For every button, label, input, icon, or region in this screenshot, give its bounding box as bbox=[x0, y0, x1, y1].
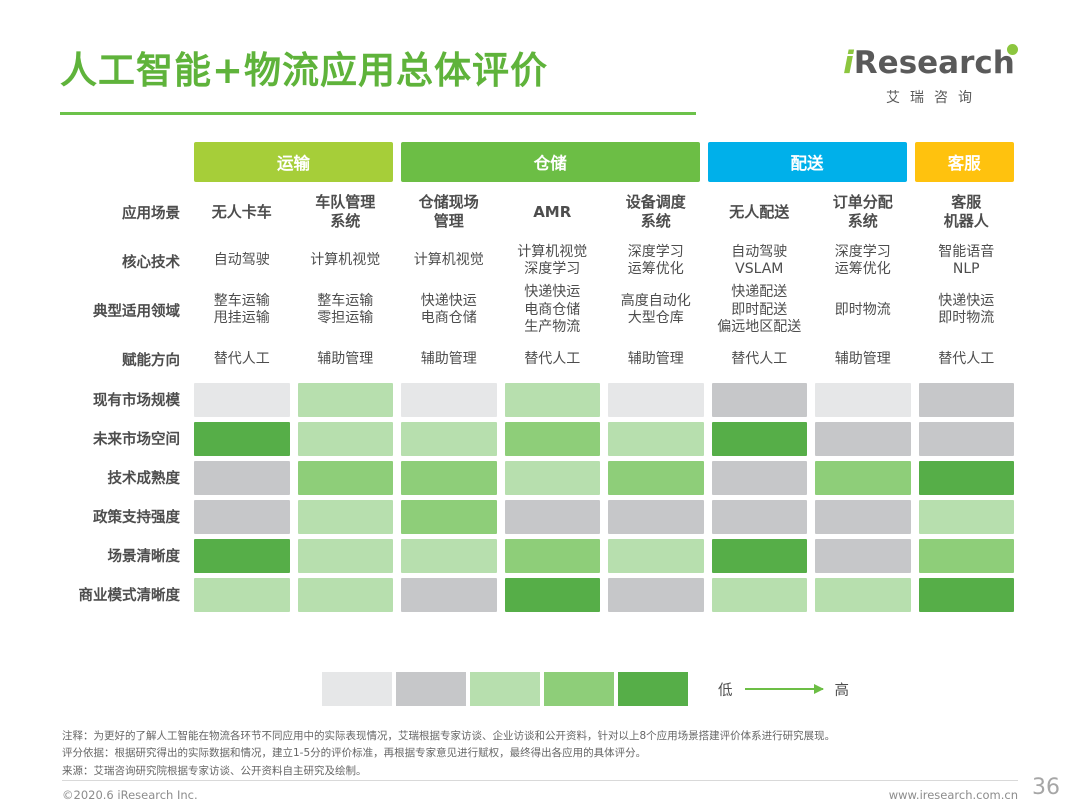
heat-cell-r6-c3 bbox=[401, 578, 497, 612]
heat-cell-r5-c3 bbox=[401, 539, 497, 573]
heat-cell-r1-c3 bbox=[401, 383, 497, 417]
domain-cell-7: 即时物流 bbox=[815, 284, 911, 337]
core-tech-cell-3: 计算机视觉 bbox=[401, 238, 497, 284]
scenario-cell-1: 无人卡车 bbox=[194, 186, 290, 238]
logo-wordmark: iResearch bbox=[834, 48, 1024, 79]
group-header-2: 仓储 bbox=[401, 142, 700, 182]
scenario-cell-3: 仓储现场管理 bbox=[401, 186, 497, 238]
heat-cell-r2-c3 bbox=[401, 422, 497, 456]
row-domain: 典型适用领域 整车运输甩挂运输整车运输零担运输快递快运电商仓储快递快运电商仓储生… bbox=[62, 284, 1018, 337]
page-number: 36 bbox=[1032, 775, 1060, 800]
logo-i: i bbox=[843, 45, 854, 81]
iresearch-logo: iResearch 艾瑞咨询 bbox=[834, 48, 1024, 107]
heat-cell-r2-c2 bbox=[298, 422, 394, 456]
logo-research: Research bbox=[854, 45, 1015, 81]
row-empower: 赋能方向 替代人工辅助管理辅助管理替代人工辅助管理替代人工辅助管理替代人工 bbox=[62, 337, 1018, 383]
footer-copyright: ©2020.6 iResearch Inc. bbox=[62, 788, 198, 802]
scenario-cell-4: AMR bbox=[505, 186, 601, 238]
empower-cell-3: 辅助管理 bbox=[401, 337, 497, 383]
group-cells: 运输仓储配送客服 bbox=[190, 142, 1018, 182]
legend-swatch-2 bbox=[396, 672, 466, 706]
heat-row-1: 现有市场规模 bbox=[62, 383, 1018, 417]
heat-row-4: 政策支持强度 bbox=[62, 500, 1018, 534]
group-header-row: 运输仓储配送客服 bbox=[62, 142, 1018, 182]
heat-row-label-3: 技术成熟度 bbox=[62, 461, 190, 495]
heat-row-label-4: 政策支持强度 bbox=[62, 500, 190, 534]
heat-cell-r1-c2 bbox=[298, 383, 394, 417]
core-tech-cell-6: 自动驾驶VSLAM bbox=[712, 238, 808, 284]
footer-website: www.iresearch.com.cn bbox=[889, 788, 1018, 802]
heat-row-6: 商业模式清晰度 bbox=[62, 578, 1018, 612]
heat-cell-r4-c4 bbox=[505, 500, 601, 534]
row-label-scenario: 应用场景 bbox=[62, 186, 190, 238]
core-tech-cells: 自动驾驶计算机视觉计算机视觉计算机视觉深度学习深度学习运筹优化自动驾驶VSLAM… bbox=[190, 238, 1018, 284]
row-scenario: 应用场景 无人卡车车队管理系统仓储现场管理AMR设备调度系统无人配送订单分配系统… bbox=[62, 186, 1018, 238]
heat-row-3: 技术成熟度 bbox=[62, 461, 1018, 495]
empower-cell-5: 辅助管理 bbox=[608, 337, 704, 383]
scenario-cell-2: 车队管理系统 bbox=[298, 186, 394, 238]
heat-cell-r1-c4 bbox=[505, 383, 601, 417]
page-title: 人工智能+物流应用总体评价 bbox=[60, 52, 700, 89]
domain-cell-1: 整车运输甩挂运输 bbox=[194, 284, 290, 337]
page-title-bar: 人工智能+物流应用总体评价 bbox=[60, 52, 700, 89]
heat-cell-r5-c4 bbox=[505, 539, 601, 573]
legend-swatch-4 bbox=[544, 672, 614, 706]
heat-cell-r4-c1 bbox=[194, 500, 290, 534]
legend-swatch-3 bbox=[470, 672, 540, 706]
heat-cell-r4-c7 bbox=[815, 500, 911, 534]
heat-cell-r4-c3 bbox=[401, 500, 497, 534]
heat-cell-r2-c4 bbox=[505, 422, 601, 456]
heat-cell-r1-c1 bbox=[194, 383, 290, 417]
scenario-cell-7: 订单分配系统 bbox=[815, 186, 911, 238]
heat-cell-r1-c7 bbox=[815, 383, 911, 417]
evaluation-table: 运输仓储配送客服 应用场景 无人卡车车队管理系统仓储现场管理AMR设备调度系统无… bbox=[62, 142, 1018, 617]
footnote-1: 注释：为更好的了解人工智能在物流各环节不同应用中的实际表现情况，艾瑞根据专家访谈… bbox=[62, 728, 1018, 745]
empower-cell-6: 替代人工 bbox=[712, 337, 808, 383]
core-tech-cell-1: 自动驾驶 bbox=[194, 238, 290, 284]
heat-row-label-2: 未来市场空间 bbox=[62, 422, 190, 456]
heat-cell-r3-c5 bbox=[608, 461, 704, 495]
heat-cell-r2-c6 bbox=[712, 422, 808, 456]
heat-row-cells-2 bbox=[190, 422, 1018, 456]
empower-cell-8: 替代人工 bbox=[919, 337, 1015, 383]
group-header-3: 配送 bbox=[708, 142, 907, 182]
heatmap-rows: 现有市场规模未来市场空间技术成熟度政策支持强度场景清晰度商业模式清晰度 bbox=[62, 383, 1018, 612]
footnote-3: 来源：艾瑞咨询研究院根据专家访谈、公开资料自主研究及绘制。 bbox=[62, 763, 1018, 780]
group-row-spacer bbox=[62, 142, 190, 182]
heat-cell-r4-c5 bbox=[608, 500, 704, 534]
heat-row-cells-4 bbox=[190, 500, 1018, 534]
heat-cell-r3-c2 bbox=[298, 461, 394, 495]
heat-row-cells-6 bbox=[190, 578, 1018, 612]
footnotes: 注释：为更好的了解人工智能在物流各环节不同应用中的实际表现情况，艾瑞根据专家访谈… bbox=[62, 728, 1018, 780]
heat-cell-r1-c5 bbox=[608, 383, 704, 417]
domain-cell-4: 快递快运电商仓储生产物流 bbox=[505, 284, 601, 337]
heat-cell-r6-c2 bbox=[298, 578, 394, 612]
heat-cell-r3-c4 bbox=[505, 461, 601, 495]
row-label-empower: 赋能方向 bbox=[62, 337, 190, 383]
legend: 低 高 bbox=[62, 672, 1018, 706]
heat-cell-r4-c2 bbox=[298, 500, 394, 534]
heat-row-label-1: 现有市场规模 bbox=[62, 383, 190, 417]
core-tech-cell-2: 计算机视觉 bbox=[298, 238, 394, 284]
empower-cell-1: 替代人工 bbox=[194, 337, 290, 383]
row-core-tech: 核心技术 自动驾驶计算机视觉计算机视觉计算机视觉深度学习深度学习运筹优化自动驾驶… bbox=[62, 238, 1018, 284]
heat-cell-r1-c6 bbox=[712, 383, 808, 417]
domain-cell-2: 整车运输零担运输 bbox=[298, 284, 394, 337]
heat-cell-r2-c7 bbox=[815, 422, 911, 456]
heat-cell-r6-c6 bbox=[712, 578, 808, 612]
heat-cell-r3-c8 bbox=[919, 461, 1015, 495]
scenario-cell-8: 客服机器人 bbox=[919, 186, 1015, 238]
heat-cell-r2-c5 bbox=[608, 422, 704, 456]
scenario-cells: 无人卡车车队管理系统仓储现场管理AMR设备调度系统无人配送订单分配系统客服机器人 bbox=[190, 186, 1018, 238]
heat-cell-r5-c7 bbox=[815, 539, 911, 573]
heat-cell-r6-c5 bbox=[608, 578, 704, 612]
heat-row-cells-1 bbox=[190, 383, 1018, 417]
domain-cells: 整车运输甩挂运输整车运输零担运输快递快运电商仓储快递快运电商仓储生产物流高度自动… bbox=[190, 284, 1018, 337]
legend-swatch-1 bbox=[322, 672, 392, 706]
legend-swatches bbox=[322, 672, 692, 706]
core-tech-cell-5: 深度学习运筹优化 bbox=[608, 238, 704, 284]
heat-cell-r5-c5 bbox=[608, 539, 704, 573]
heat-cell-r3-c7 bbox=[815, 461, 911, 495]
heat-row-5: 场景清晰度 bbox=[62, 539, 1018, 573]
heat-cell-r6-c4 bbox=[505, 578, 601, 612]
heat-cell-r5-c2 bbox=[298, 539, 394, 573]
heat-cell-r6-c8 bbox=[919, 578, 1015, 612]
legend-swatch-5 bbox=[618, 672, 688, 706]
core-tech-cell-4: 计算机视觉深度学习 bbox=[505, 238, 601, 284]
heat-row-2: 未来市场空间 bbox=[62, 422, 1018, 456]
heat-cell-r3-c1 bbox=[194, 461, 290, 495]
heat-cell-r3-c6 bbox=[712, 461, 808, 495]
footer-divider bbox=[62, 780, 1018, 781]
scenario-cell-6: 无人配送 bbox=[712, 186, 808, 238]
core-tech-cell-8: 智能语音NLP bbox=[919, 238, 1015, 284]
domain-cell-8: 快递快运即时物流 bbox=[919, 284, 1015, 337]
heat-cell-r2-c8 bbox=[919, 422, 1015, 456]
heat-cell-r6-c7 bbox=[815, 578, 911, 612]
row-label-core-tech: 核心技术 bbox=[62, 238, 190, 284]
logo-chinese-name: 艾瑞咨询 bbox=[834, 87, 1024, 107]
heat-row-label-6: 商业模式清晰度 bbox=[62, 578, 190, 612]
empower-cell-7: 辅助管理 bbox=[815, 337, 911, 383]
empower-cell-2: 辅助管理 bbox=[298, 337, 394, 383]
scenario-cell-5: 设备调度系统 bbox=[608, 186, 704, 238]
heat-cell-r6-c1 bbox=[194, 578, 290, 612]
heat-cell-r5-c6 bbox=[712, 539, 808, 573]
domain-cell-3: 快递快运电商仓储 bbox=[401, 284, 497, 337]
heat-cell-r2-c1 bbox=[194, 422, 290, 456]
legend-high-label: 高 bbox=[835, 679, 850, 700]
heat-row-cells-3 bbox=[190, 461, 1018, 495]
title-underline bbox=[60, 112, 696, 115]
logo-dot-icon bbox=[1007, 44, 1018, 55]
heat-row-label-5: 场景清晰度 bbox=[62, 539, 190, 573]
group-header-4: 客服 bbox=[915, 142, 1015, 182]
group-header-1: 运输 bbox=[194, 142, 393, 182]
core-tech-cell-7: 深度学习运筹优化 bbox=[815, 238, 911, 284]
domain-cell-6: 快递配送即时配送偏远地区配送 bbox=[712, 284, 808, 337]
heat-cell-r4-c6 bbox=[712, 500, 808, 534]
heat-cell-r3-c3 bbox=[401, 461, 497, 495]
empower-cells: 替代人工辅助管理辅助管理替代人工辅助管理替代人工辅助管理替代人工 bbox=[190, 337, 1018, 383]
empower-cell-4: 替代人工 bbox=[505, 337, 601, 383]
legend-low-label: 低 bbox=[718, 679, 733, 700]
footnote-2: 评分依据：根据研究得出的实际数据和情况，建立1-5分的评价标准，再根据专家意见进… bbox=[62, 745, 1018, 762]
row-label-domain: 典型适用领域 bbox=[62, 284, 190, 337]
heat-row-cells-5 bbox=[190, 539, 1018, 573]
heat-cell-r5-c8 bbox=[919, 539, 1015, 573]
heat-cell-r1-c8 bbox=[919, 383, 1015, 417]
domain-cell-5: 高度自动化大型仓库 bbox=[608, 284, 704, 337]
heat-cell-r5-c1 bbox=[194, 539, 290, 573]
heat-cell-r4-c8 bbox=[919, 500, 1015, 534]
legend-arrow-icon bbox=[745, 688, 823, 690]
